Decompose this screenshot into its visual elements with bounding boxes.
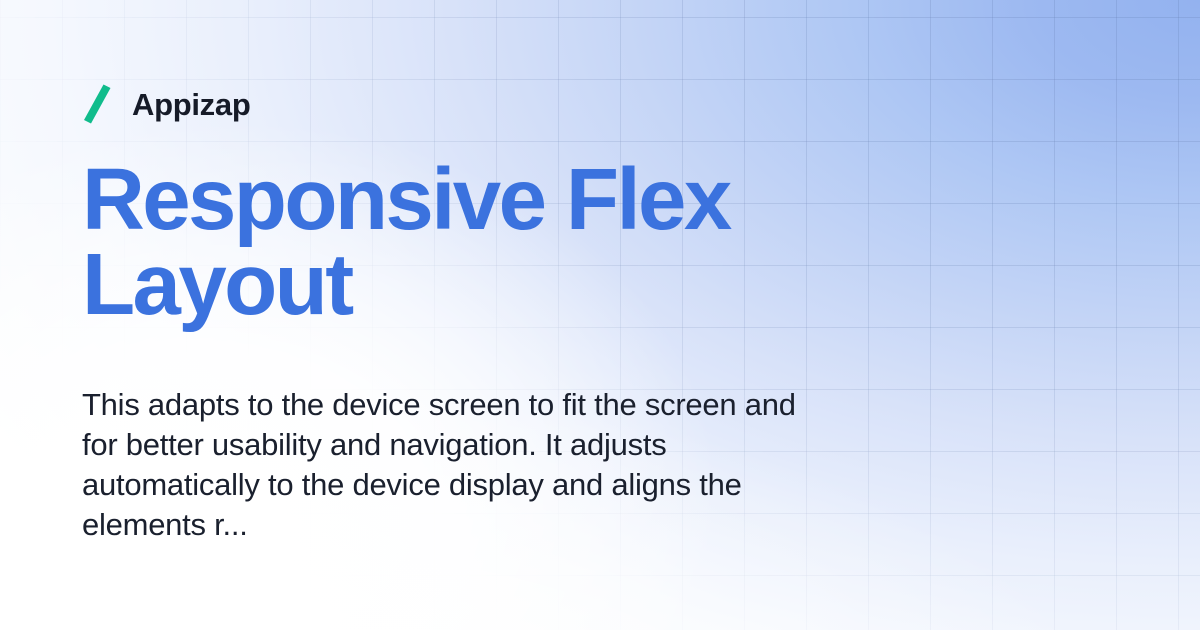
brand-lockup: Appizap [82,80,250,128]
card-content: Appizap Responsive Flex Layout This adap… [82,0,1142,630]
brand-name: Appizap [132,89,250,120]
page-title: Responsive Flex Layout [82,157,872,328]
page-description: This adapts to the device screen to fit … [82,385,827,545]
og-preview-card: Appizap Responsive Flex Layout This adap… [0,0,1200,630]
slash-mark-icon [82,83,112,125]
